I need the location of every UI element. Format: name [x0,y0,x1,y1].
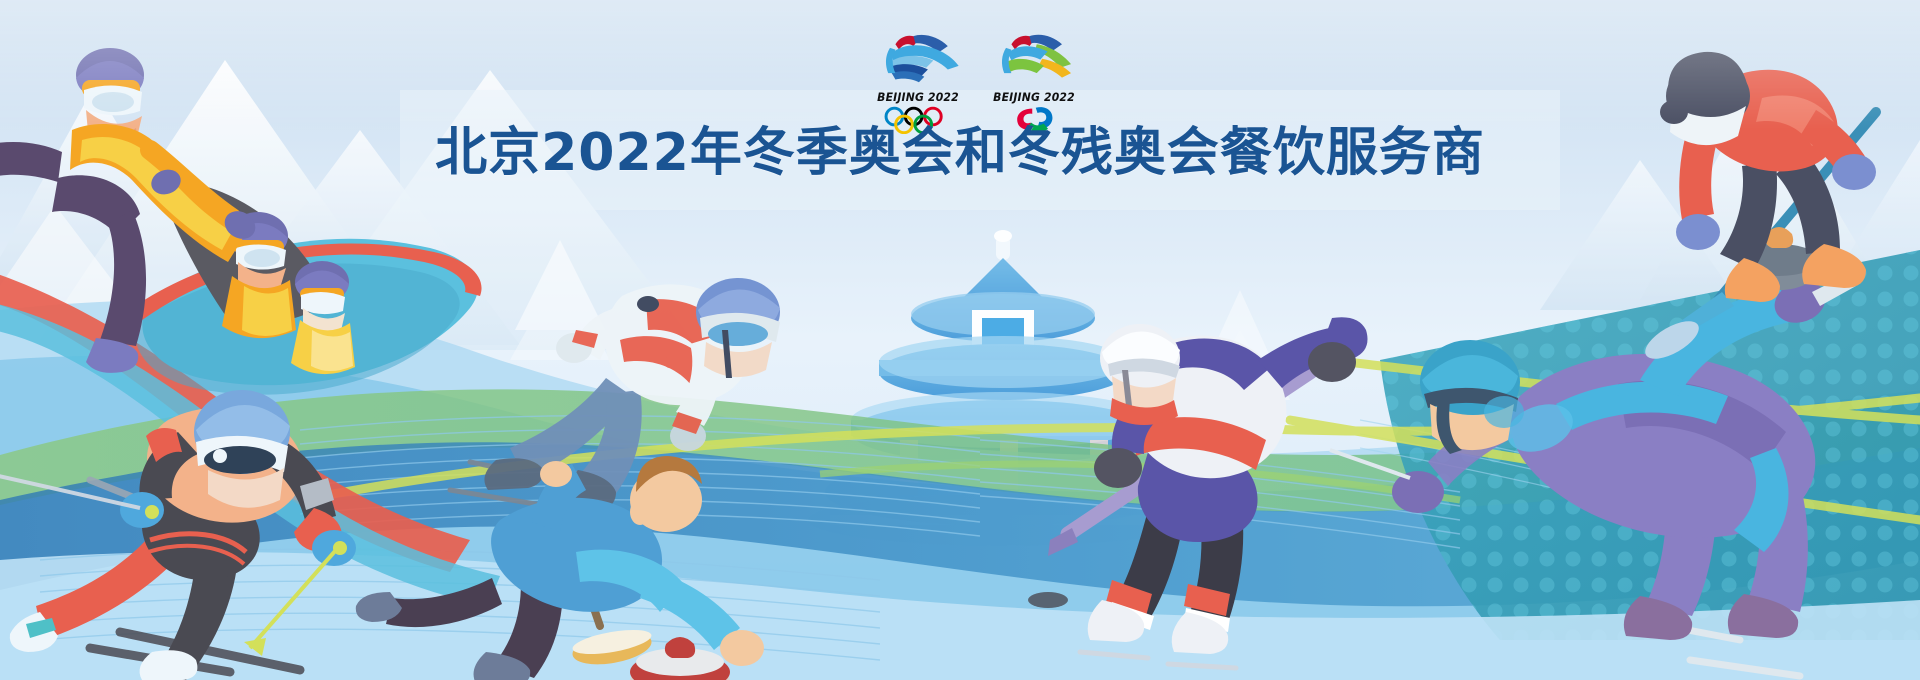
olympic-emblem-icon [868,28,968,84]
paralympic-wordmark: BEIJING 2022 [987,90,1081,104]
paralympic-emblem-icon [984,28,1084,84]
page-title: 北京2022年冬季奥会和冬残奥会餐饮服务商 [0,122,1920,184]
olympic-banner: BEIJING 2022 B [0,0,1920,680]
olympic-wordmark: BEIJING 2022 [871,90,965,104]
